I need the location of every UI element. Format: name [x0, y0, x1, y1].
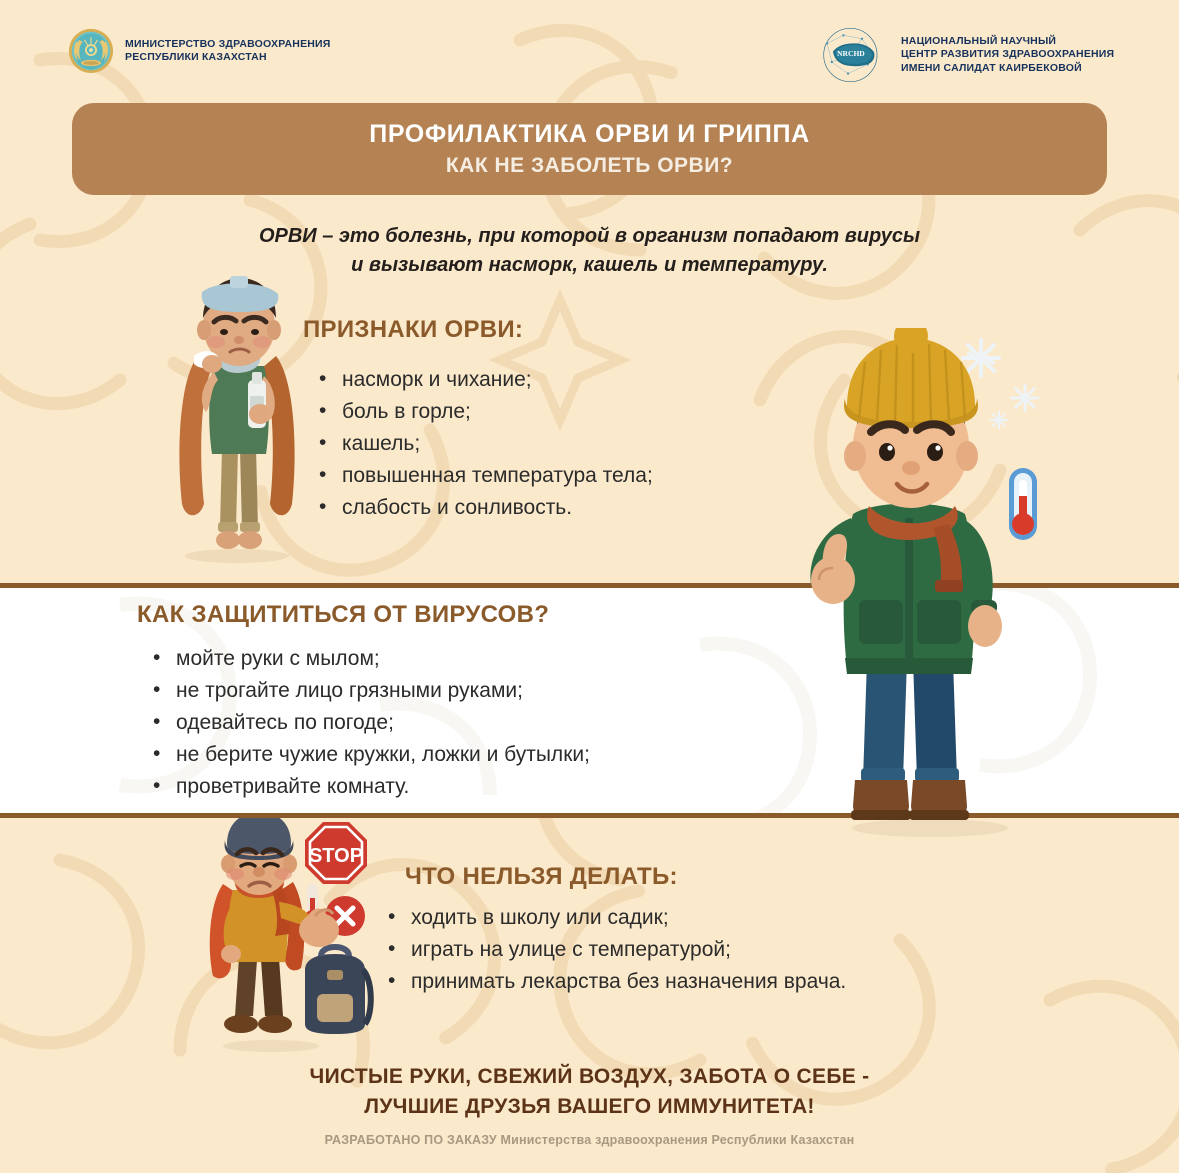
nrchd-logo-line3: ИМЕНИ САЛИДАТ КАИРБЕКОВОЙ [901, 62, 1114, 76]
footer-slogan-line2: ЛУЧШИЕ ДРУЗЬЯ ВАШЕГО ИММУНИТЕТА! [0, 1092, 1179, 1122]
section-signs-list: насморк и чихание; боль в горле; кашель;… [316, 364, 653, 524]
list-item: проветривайте комнату. [150, 771, 590, 803]
section-signs-heading: ПРИЗНАКИ ОРВИ: [303, 316, 523, 344]
section-protect-list: мойте руки с мылом; не трогайте лицо гря… [150, 643, 590, 803]
nrchd-logo: NRCHD НАЦИОНАЛЬНЫЙ НАУЧНЫЙ ЦЕНТР РАЗВИТИ… [820, 26, 1114, 84]
list-item: мойте руки с мылом; [150, 643, 590, 675]
list-item: насморк и чихание; [316, 364, 653, 396]
ministry-logo: МИНИСТЕРСТВО ЗДРАВООХРАНЕНИЯ РЕСПУБЛИКИ … [68, 28, 331, 74]
title-banner: ПРОФИЛАКТИКА ОРВИ И ГРИППА КАК НЕ ЗАБОЛЕ… [72, 103, 1107, 195]
nrchd-logo-line2: ЦЕНТР РАЗВИТИЯ ЗДРАВООХРАНЕНИЯ [901, 48, 1114, 62]
poster-header: МИНИСТЕРСТВО ЗДРАВООХРАНЕНИЯ РЕСПУБЛИКИ … [0, 0, 1179, 100]
stop-boy-illustration: STOP [193, 818, 403, 1053]
intro-line2: и вызывают насморк, кашель и температуру… [0, 251, 1179, 280]
thermometer-icon [1009, 468, 1037, 540]
intro-text: ОРВИ – это болезнь, при которой в органи… [0, 222, 1179, 280]
footer-slogan-line1: ЧИСТЫЕ РУКИ, СВЕЖИЙ ВОЗДУХ, ЗАБОТА О СЕБ… [0, 1062, 1179, 1092]
nrchd-logo-text: НАЦИОНАЛЬНЫЙ НАУЧНЫЙ ЦЕНТР РАЗВИТИЯ ЗДРА… [901, 35, 1114, 76]
list-item: играть на улице с температурой; [385, 934, 846, 966]
kazakhstan-emblem-icon [68, 28, 114, 74]
ministry-logo-line2: РЕСПУБЛИКИ КАЗАХСТАН [125, 51, 331, 65]
list-item: повышенная температура тела; [316, 460, 653, 492]
section-forbid-heading: ЧТО НЕЛЬЗЯ ДЕЛАТЬ: [405, 863, 678, 891]
sick-boy-illustration [152, 268, 322, 563]
list-item: одевайтесь по погоде; [150, 707, 590, 739]
list-item: кашель; [316, 428, 653, 460]
section-protect-heading: КАК ЗАЩИТИТЬСЯ ОТ ВИРУСОВ? [137, 601, 549, 629]
svg-text:NRCHD: NRCHD [837, 49, 865, 58]
nrchd-logo-line1: НАЦИОНАЛЬНЫЙ НАУЧНЫЙ [901, 35, 1114, 49]
footer-slogan: ЧИСТЫЕ РУКИ, СВЕЖИЙ ВОЗДУХ, ЗАБОТА О СЕБ… [0, 1062, 1179, 1122]
section-forbid-list: ходить в школу или садик; играть на улиц… [385, 902, 846, 998]
ministry-logo-line1: МИНИСТЕРСТВО ЗДРАВООХРАНЕНИЯ [125, 38, 331, 52]
list-item: слабость и сонливость. [316, 492, 653, 524]
list-item: принимать лекарства без назначения врача… [385, 966, 846, 998]
list-item: боль в горле; [316, 396, 653, 428]
poster-footer: ЧИСТЫЕ РУКИ, СВЕЖИЙ ВОЗДУХ, ЗАБОТА О СЕБ… [0, 1062, 1179, 1147]
footer-credit: РАЗРАБОТАНО ПО ЗАКАЗУ Министерства здрав… [0, 1133, 1179, 1147]
ministry-logo-text: МИНИСТЕРСТВО ЗДРАВООХРАНЕНИЯ РЕСПУБЛИКИ … [125, 38, 331, 65]
list-item: не берите чужие кружки, ложки и бутылки; [150, 739, 590, 771]
poster-title: ПРОФИЛАКТИКА ОРВИ И ГРИППА [369, 120, 809, 149]
poster-subtitle: КАК НЕ ЗАБОЛЕТЬ ОРВИ? [446, 154, 733, 178]
intro-line1: ОРВИ – это болезнь, при которой в органи… [0, 222, 1179, 251]
list-item: ходить в школу или садик; [385, 902, 846, 934]
backpack-icon [305, 947, 371, 1034]
healthy-boy-illustration [785, 328, 1075, 838]
nrchd-map-network-icon: NRCHD [820, 26, 890, 84]
poster-root: МИНИСТЕРСТВО ЗДРАВООХРАНЕНИЯ РЕСПУБЛИКИ … [0, 0, 1179, 1173]
stop-sign-icon: STOP [305, 822, 367, 884]
list-item: не трогайте лицо грязными руками; [150, 675, 590, 707]
stop-sign-label: STOP [309, 845, 363, 867]
